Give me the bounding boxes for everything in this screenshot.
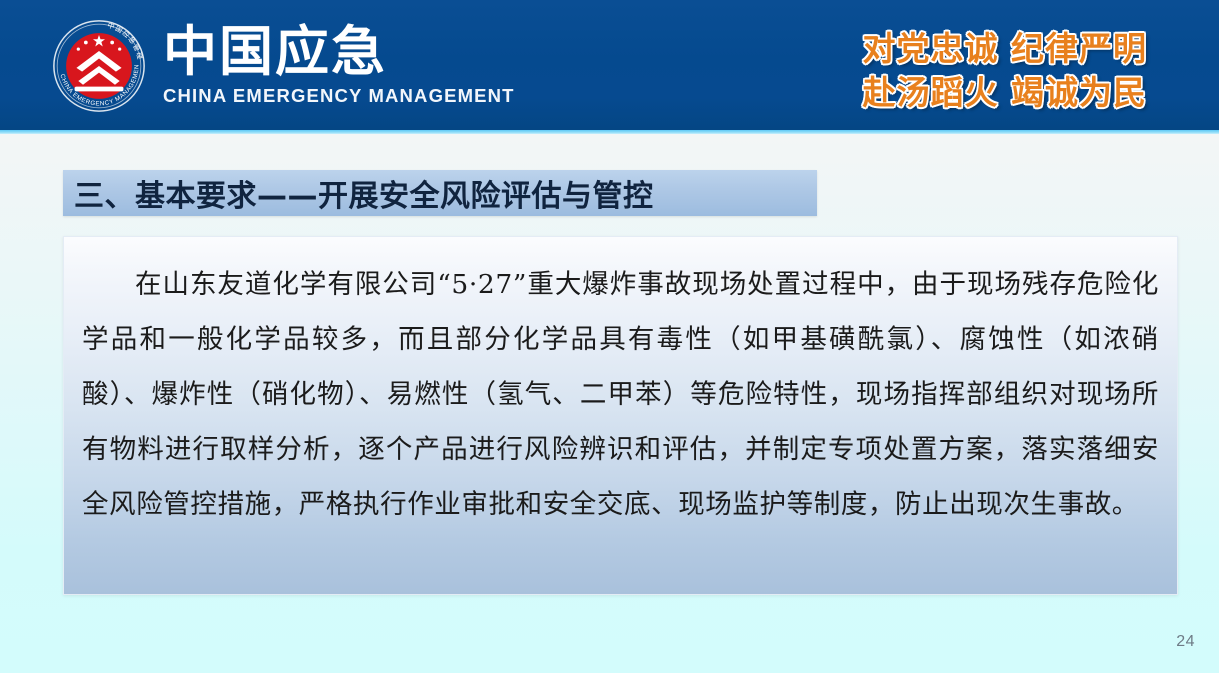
brand-name-cn: 中国应急 [163, 22, 583, 82]
page-title: 三、基本要求——开展安全风险评估与管控 [74, 171, 654, 215]
china-emergency-management-emblem-icon: 中国应急管理 CHINA EMERGENCY MANAGEMENT [52, 19, 146, 113]
body-paragraph: 在山东友道化学有限公司“5·27”重大爆炸事故现场处置过程中，由于现场残存危险化… [76, 257, 1165, 532]
brand-name-en: CHINA EMERGENCY MANAGEMENT [163, 85, 583, 107]
presentation-slide: 中国应急管理 CHINA EMERGENCY MANAGEMENT 中国应急 C… [0, 0, 1219, 673]
slide-page-number: 24 [1176, 633, 1195, 651]
header-accent-line [0, 130, 1219, 134]
brand-wordmark: 中国应急 CHINA EMERGENCY MANAGEMENT [163, 22, 583, 107]
slogan-line-1: 对党忠诚 纪律严明 [863, 27, 1148, 71]
section-title-band: 三、基本要求——开展安全风险评估与管控 [63, 170, 817, 216]
slide-header-banner: 中国应急管理 CHINA EMERGENCY MANAGEMENT 中国应急 C… [0, 0, 1219, 130]
header-slogan: 对党忠诚 纪律严明 赴汤蹈火 竭诚为民 [863, 27, 1148, 115]
content-panel: 在山东友道化学有限公司“5·27”重大爆炸事故现场处置过程中，由于现场残存危险化… [63, 236, 1178, 595]
slogan-line-2: 赴汤蹈火 竭诚为民 [863, 71, 1148, 115]
